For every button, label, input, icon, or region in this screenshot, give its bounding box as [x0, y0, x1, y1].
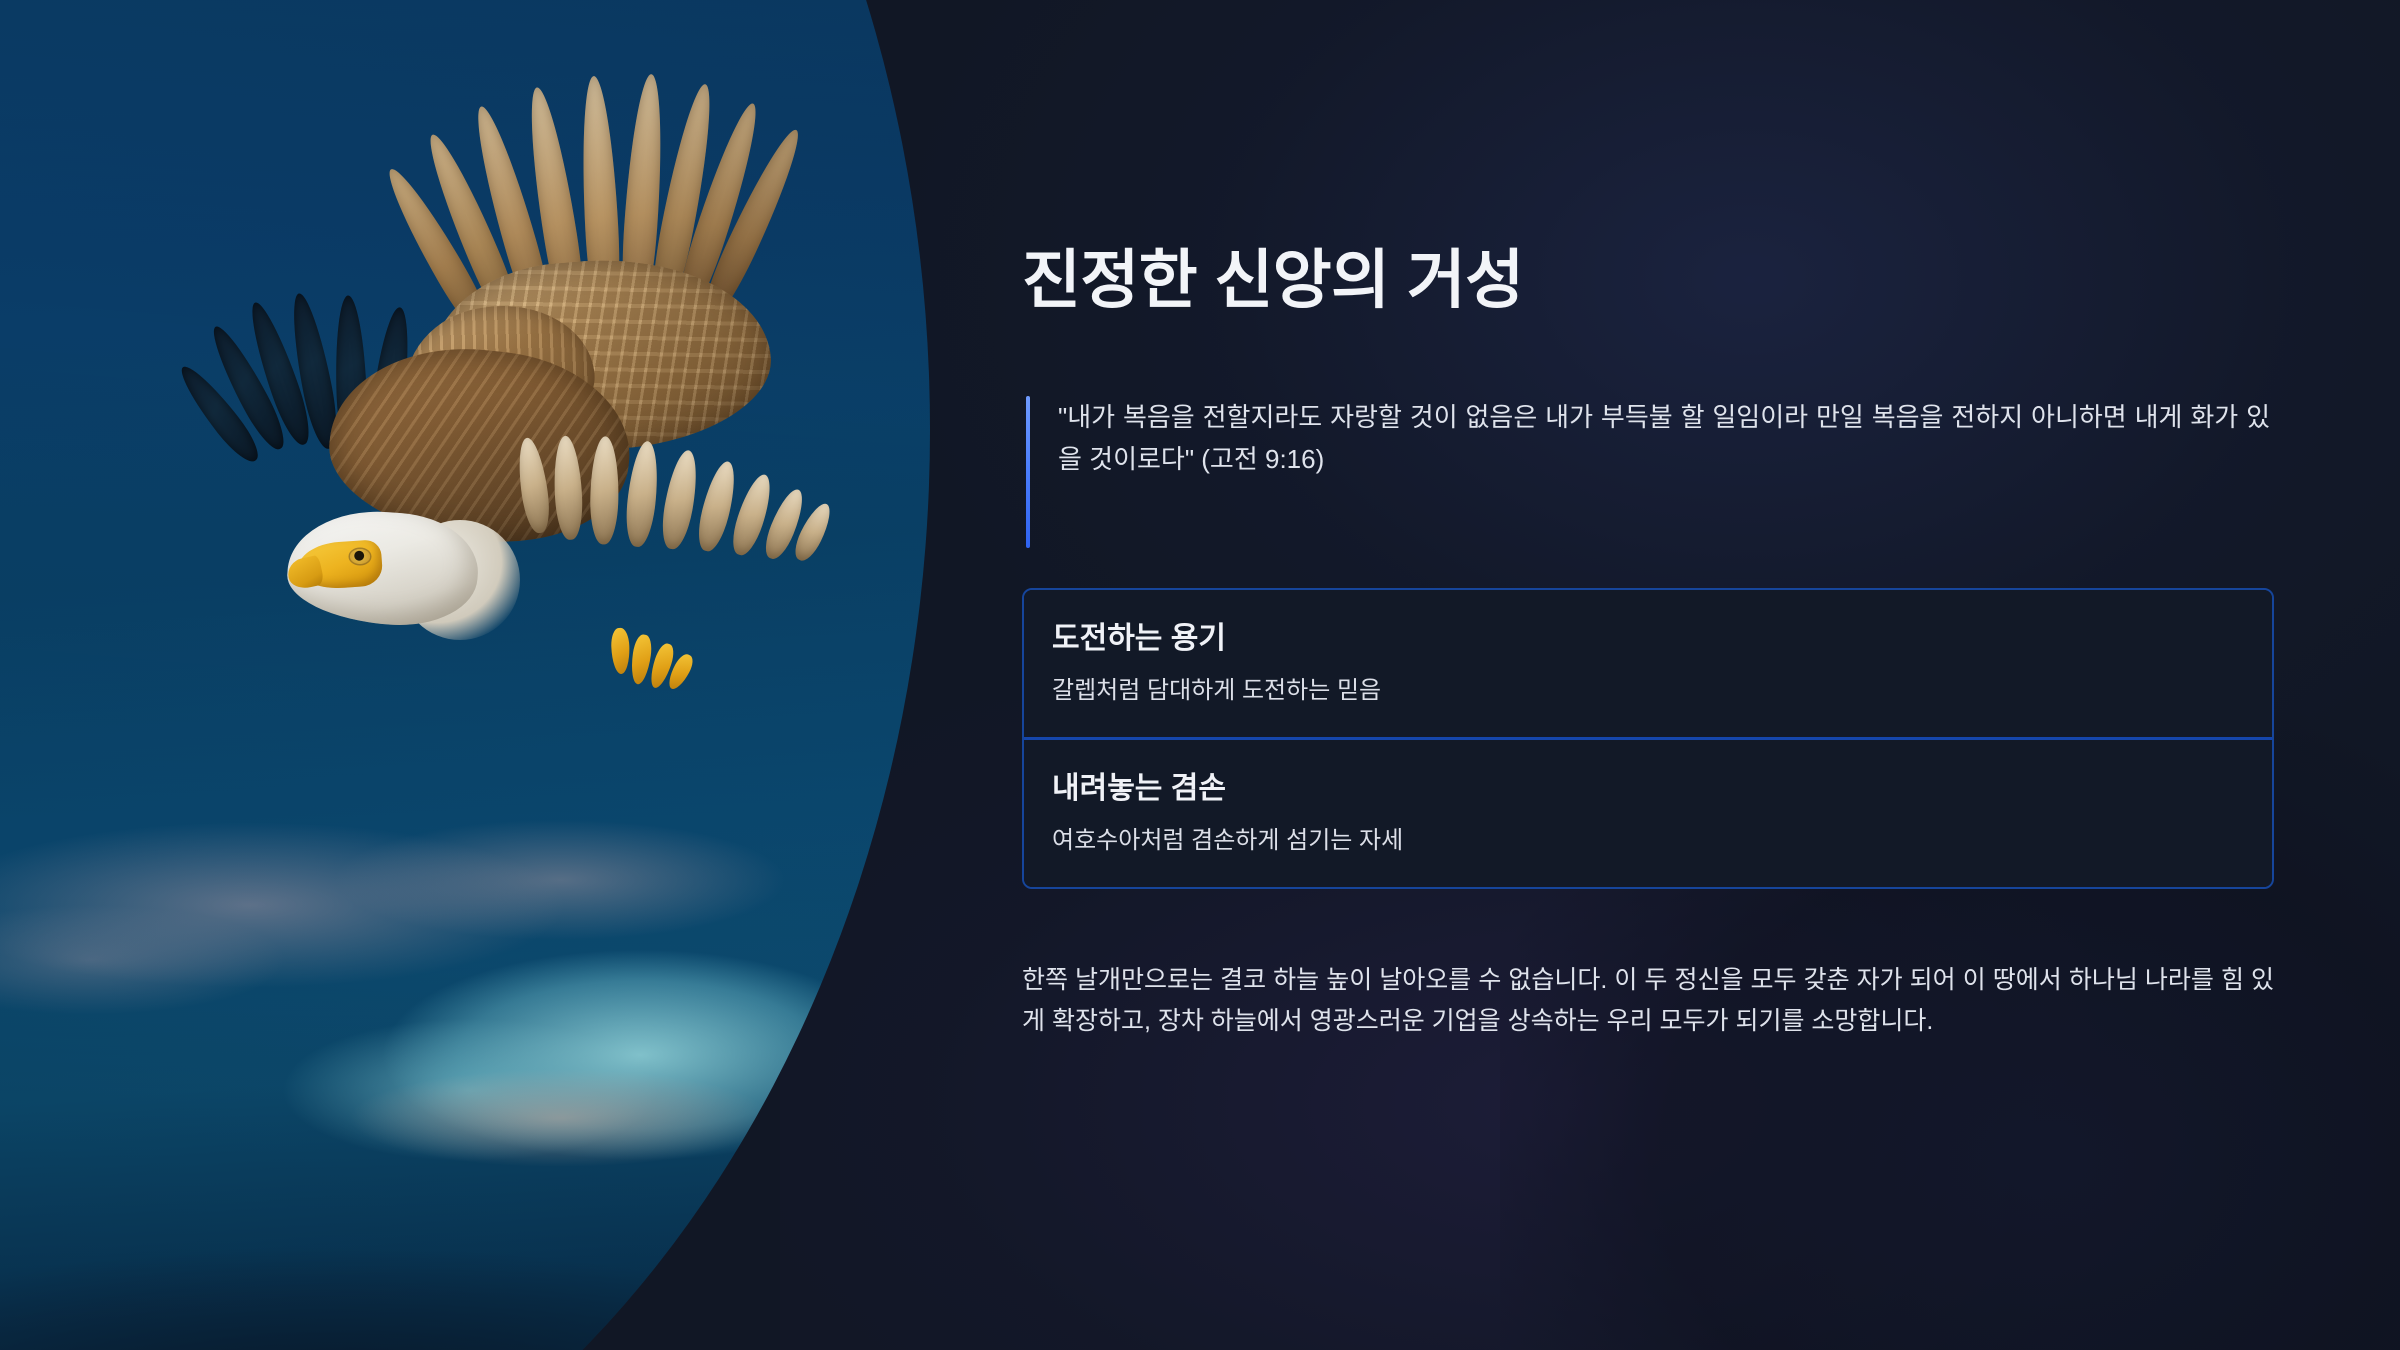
quote-accent-bar	[1026, 396, 1030, 548]
point-card-description: 갈렙처럼 담대하게 도전하는 믿음	[1052, 674, 2244, 708]
point-card-courage[interactable]: 도전하는 용기 갈렙처럼 담대하게 도전하는 믿음	[1024, 590, 2272, 737]
scripture-quote-text: "내가 복음을 전할지라도 자랑할 것이 없음은 내가 부득불 할 일임이라 만…	[1058, 396, 2274, 480]
closing-paragraph: 한쪽 날개만으로는 결코 하늘 높이 날아오를 수 없습니다. 이 두 정신을 …	[1022, 960, 2274, 1041]
page-title: 진정한 신앙의 거성	[1022, 243, 1524, 319]
eagle-eye	[350, 549, 370, 564]
point-card-description: 여호수아처럼 겸손하게 섬기는 자세	[1052, 824, 2244, 858]
content-column: 진정한 신앙의 거성 "내가 복음을 전할지라도 자랑할 것이 없음은 내가 부…	[1022, 0, 2274, 1350]
point-card-title: 도전하는 용기	[1052, 620, 2244, 658]
scripture-quote-block: "내가 복음을 전할지라도 자랑할 것이 없음은 내가 부득불 할 일임이라 만…	[1022, 396, 2274, 480]
slide-root: 진정한 신앙의 거성 "내가 복음을 전할지라도 자랑할 것이 없음은 내가 부…	[0, 0, 2400, 1350]
eagle-lower-wing	[516, 429, 854, 572]
hero-image-panel	[0, 0, 940, 1350]
point-card-title: 내려놓는 겸손	[1052, 770, 2244, 808]
points-card-group: 도전하는 용기 갈렙처럼 담대하게 도전하는 믿음 내려놓는 겸손 여호수아처럼…	[1022, 588, 2274, 889]
point-card-humility[interactable]: 내려놓는 겸손 여호수아처럼 겸손하게 섬기는 자세	[1024, 737, 2272, 887]
eagle-talons	[606, 627, 711, 698]
eagle-illustration	[0, 0, 940, 1350]
eagle-sky-photo	[0, 0, 940, 1350]
